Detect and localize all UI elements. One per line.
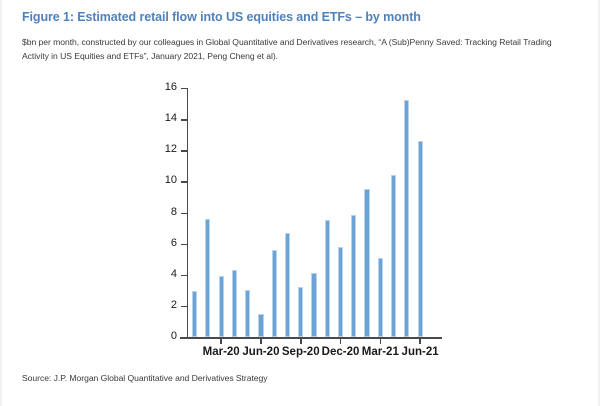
y-axis-tick (181, 119, 187, 120)
y-axis-tick (181, 337, 187, 338)
x-axis-label: Jun-20 (242, 346, 279, 358)
bar (325, 220, 330, 337)
bar (418, 141, 423, 337)
bar (298, 287, 303, 337)
y-axis-label: 8 (137, 206, 177, 218)
x-axis-tick (220, 338, 222, 344)
y-axis-label: 16 (137, 81, 177, 93)
y-axis-label: 2 (137, 299, 177, 311)
y-axis-label: 14 (137, 112, 177, 124)
page-title: Figure 1: Estimated retail flow into US … (22, 10, 578, 25)
bar (391, 175, 396, 337)
bar-series (188, 88, 440, 337)
x-axis-tick (260, 338, 262, 344)
y-axis-tick (181, 306, 187, 307)
x-axis-label: Mar-21 (362, 346, 399, 358)
bar (192, 291, 197, 337)
bar (219, 276, 224, 337)
x-axis-tick (340, 338, 342, 344)
x-axis-label: Jun-21 (402, 346, 439, 358)
figure-page: Figure 1: Estimated retail flow into US … (0, 0, 600, 406)
bar (272, 250, 277, 337)
source-note: Source: J.P. Morgan Global Quantitative … (22, 373, 268, 383)
bar (232, 270, 237, 337)
y-axis-tick (181, 213, 187, 214)
x-axis-label: Sep-20 (282, 346, 320, 358)
x-axis-label: Mar-20 (203, 346, 240, 358)
y-axis-label: 10 (137, 174, 177, 186)
bar-chart: 0246810121416 Mar-20Jun-20Sep-20Dec-20Ma… (0, 80, 600, 365)
y-axis-label: 4 (137, 268, 177, 280)
x-axis-line (180, 337, 442, 339)
x-axis-tick (380, 338, 382, 344)
bar (364, 189, 369, 337)
bar (258, 314, 263, 337)
figure-subtitle: $bn per month, constructed by our collea… (22, 35, 578, 63)
bar (245, 290, 250, 337)
bar (311, 273, 316, 337)
x-axis-label: Dec-20 (322, 346, 360, 358)
bar (205, 219, 210, 337)
y-axis-label: 12 (137, 143, 177, 155)
y-axis-tick (181, 181, 187, 182)
y-axis-tick (181, 275, 187, 276)
y-axis-tick (181, 88, 187, 89)
x-axis-tick (419, 338, 421, 344)
bar (404, 100, 409, 337)
bar (338, 247, 343, 337)
y-axis-tick (181, 150, 187, 151)
y-axis-label: 0 (137, 330, 177, 342)
bar (351, 215, 356, 337)
y-axis-tick (181, 244, 187, 245)
y-axis-label: 6 (137, 237, 177, 249)
bar (285, 233, 290, 337)
bar (378, 258, 383, 337)
x-axis-tick (300, 338, 302, 344)
